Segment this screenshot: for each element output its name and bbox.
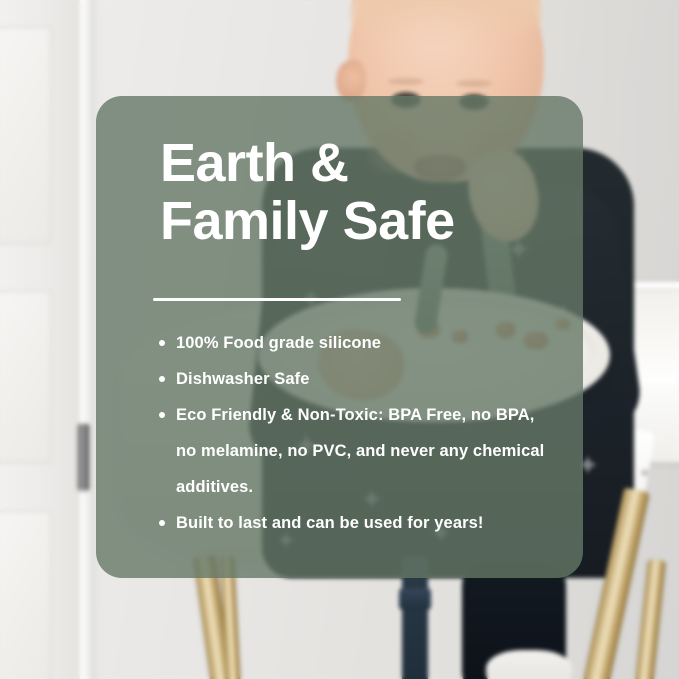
title-divider xyxy=(153,298,401,301)
high-chair-screw xyxy=(641,469,648,476)
list-item: 100% Food grade silicone xyxy=(154,325,558,361)
door-edge xyxy=(80,0,94,679)
list-item: Dishwasher Safe xyxy=(154,361,558,397)
white-panelled-door xyxy=(0,0,92,679)
page-title: Earth & Family Safe xyxy=(160,134,560,251)
door-panel-top xyxy=(0,26,52,245)
baby-sock xyxy=(486,650,572,679)
product-feature-image: ✦ ✦ ✦ ✦ ✦ ✦ ✦ ✦ ✦ ✦ xyxy=(0,0,679,679)
list-item: Eco Friendly & Non-Toxic: BPA Free, no B… xyxy=(154,397,558,505)
feature-list: 100% Food grade silicone Dishwasher Safe… xyxy=(154,325,558,541)
door-hinge xyxy=(78,424,89,490)
door-panel-middle xyxy=(0,290,52,464)
baby-brow-left xyxy=(388,78,424,85)
baby-brow-right xyxy=(456,80,492,87)
high-chair-strap-buckle xyxy=(399,588,431,610)
list-item: Built to last and can be used for years! xyxy=(154,505,558,541)
feature-card: Earth & Family Safe 100% Food grade sili… xyxy=(96,96,583,578)
door-panel-bottom xyxy=(0,510,52,679)
